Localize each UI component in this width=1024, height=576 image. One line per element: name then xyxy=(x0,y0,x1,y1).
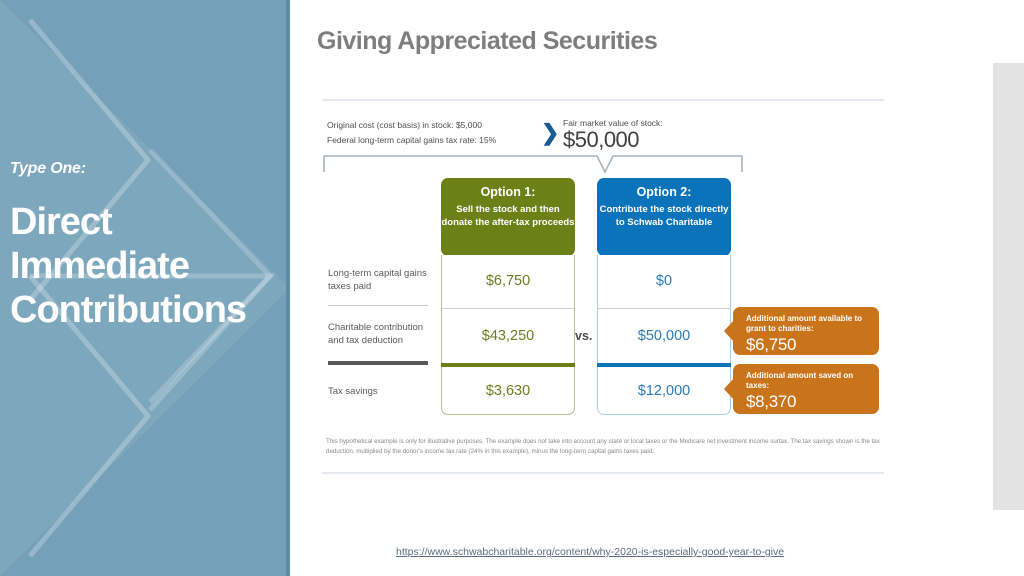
source-link[interactable]: https://www.schwabcharitable.org/content… xyxy=(396,546,784,558)
callout-2-label: Additional amount saved on taxes: xyxy=(746,371,873,391)
divider-top xyxy=(322,99,884,101)
callout-pointer-icon xyxy=(724,320,734,342)
callout-grant-amount: Additional amount available to grant to … xyxy=(733,307,879,355)
sidebar-edge-accent xyxy=(286,0,290,576)
assumptions-block: Original cost (cost basis) in stock: $5,… xyxy=(327,118,542,148)
option-1-accent-bar xyxy=(441,363,575,367)
callout-1-value: $6,750 xyxy=(746,335,873,355)
option-1-header: Option 1: Sell the stock and then donate… xyxy=(441,178,575,256)
right-gray-strip xyxy=(993,63,1024,510)
option-2-row-3-value: $12,000 xyxy=(598,383,730,399)
option-1-row-2-value: $43,250 xyxy=(442,328,574,344)
row-label-capital-gains: Long-term capital gains taxes paid xyxy=(328,268,436,294)
callout-pointer-icon xyxy=(724,378,734,400)
option-1-subtitle: Sell the stock and then donate the after… xyxy=(441,203,575,230)
cell-divider xyxy=(598,308,730,309)
row-label-tax-savings: Tax savings xyxy=(328,386,436,399)
page-title: Giving Appreciated Securities xyxy=(317,27,657,56)
cost-basis-line: Original cost (cost basis) in stock: $5,… xyxy=(327,118,542,133)
sidebar-headline: Direct Immediate Contributions xyxy=(10,200,285,332)
row-label-charitable-contribution: Charitable contribution and tax deductio… xyxy=(328,322,436,348)
disclaimer-footnote: This hypothetical example is only for il… xyxy=(326,437,882,457)
row-label-divider-1 xyxy=(328,305,428,306)
versus-label: vs. xyxy=(575,329,592,343)
callout-2-value: $8,370 xyxy=(746,392,873,412)
option-1-title: Option 1: xyxy=(441,185,575,200)
callout-1-label: Additional amount available to grant to … xyxy=(746,314,873,334)
option-1-values-column: $6,750 $43,250 $3,630 xyxy=(441,255,575,415)
option-2-subtitle: Contribute the stock directly to Schwab … xyxy=(597,203,731,230)
option-1-row-1-value: $6,750 xyxy=(442,273,574,289)
option-2-accent-bar xyxy=(597,363,731,367)
tax-rate-line: Federal long-term capital gains tax rate… xyxy=(327,133,542,148)
chevron-right-icon: ❯ xyxy=(541,120,559,146)
option-2-header: Option 2: Contribute the stock directly … xyxy=(597,178,731,256)
divider-bottom xyxy=(322,472,884,474)
callout-tax-savings: Additional amount saved on taxes: $8,370 xyxy=(733,364,879,414)
sidebar-panel: Type One: Direct Immediate Contributions xyxy=(0,0,290,576)
option-2-row-1-value: $0 xyxy=(598,273,730,289)
cell-divider xyxy=(442,308,574,309)
row-label-divider-2 xyxy=(328,361,428,365)
fair-market-value-amount: $50,000 xyxy=(563,127,639,153)
split-bracket-icon xyxy=(322,152,744,174)
option-2-title: Option 2: xyxy=(597,185,731,200)
option-2-row-2-value: $50,000 xyxy=(598,328,730,344)
option-1-row-3-value: $3,630 xyxy=(442,383,574,399)
sidebar-eyebrow: Type One: xyxy=(10,160,285,178)
option-2-values-column: $0 $50,000 $12,000 xyxy=(597,255,731,415)
